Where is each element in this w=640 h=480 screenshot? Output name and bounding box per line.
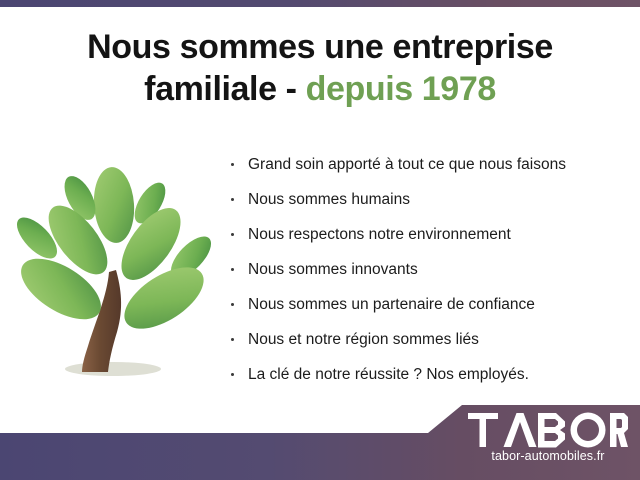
list-item-label: Nous sommes humains: [248, 191, 410, 208]
list-item: Grand soin apporté à tout ce que nous fa…: [228, 152, 628, 187]
headline-line-1: Nous sommes une entreprise: [87, 28, 553, 66]
slide-canvas: Nous sommes une entreprise familiale -de…: [0, 0, 640, 480]
list-item: Nous respectons notre environnement: [228, 222, 628, 257]
page-title: Nous sommes une entreprise familiale -de…: [40, 26, 600, 110]
list-item: La clé de notre réussite ? Nos employés.: [228, 362, 628, 397]
tree-illustration: [8, 150, 223, 390]
list-item: Nous sommes humains: [228, 187, 628, 222]
headline-line-2: familiale -depuis 1978: [40, 68, 600, 110]
brand-url[interactable]: tabor-automobiles.fr: [468, 449, 628, 463]
list-item-label: Nous sommes un partenaire de confiance: [248, 296, 535, 313]
brand-logo[interactable]: tabor-automobiles.fr: [468, 412, 628, 474]
bullet-dot-icon: [231, 163, 234, 166]
bullet-dot-icon: [231, 303, 234, 306]
list-item-label: Nous respectons notre environnement: [248, 226, 511, 243]
bullet-dot-icon: [231, 373, 234, 376]
list-item: Nous sommes innovants: [228, 257, 628, 292]
list-item-label: La clé de notre réussite ? Nos employés.: [248, 366, 529, 383]
list-item-label: Nous et notre région sommes liés: [248, 331, 479, 348]
headline-accent-since-1978: depuis 1978: [306, 70, 496, 108]
bullet-dot-icon: [231, 268, 234, 271]
list-item-label: Grand soin apporté à tout ce que nous fa…: [248, 156, 566, 173]
bullet-dot-icon: [231, 233, 234, 236]
tabor-wordmark-icon: [468, 412, 628, 448]
list-item-label: Nous sommes innovants: [248, 261, 418, 278]
top-accent-bar: [0, 0, 640, 7]
tree-shadow: [65, 362, 161, 376]
bullet-dot-icon: [231, 198, 234, 201]
list-item: Nous et notre région sommes liés: [228, 327, 628, 362]
list-item: Nous sommes un partenaire de confiance: [228, 292, 628, 327]
bullet-dot-icon: [231, 338, 234, 341]
headline-line-2-plain: familiale -: [144, 70, 296, 108]
benefits-list: Grand soin apporté à tout ce que nous fa…: [228, 152, 628, 397]
